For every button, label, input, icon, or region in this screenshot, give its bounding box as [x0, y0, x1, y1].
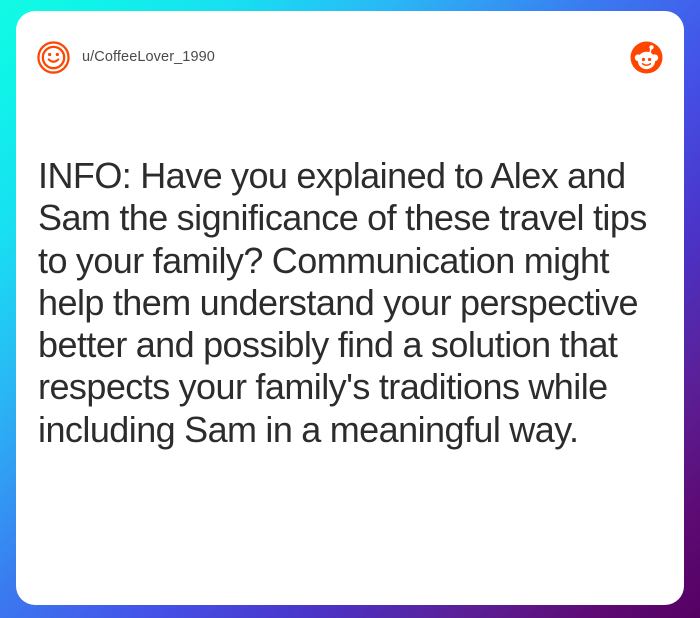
user-identity-block[interactable]: u/CoffeeLover_1990	[36, 40, 630, 75]
username-label: u/CoffeeLover_1990	[82, 49, 215, 65]
reddit-snoo-icon[interactable]	[630, 41, 663, 74]
post-body: INFO: Have you explained to Alex and Sam…	[16, 103, 684, 605]
screenshot-root: u/CoffeeLover_1990 INFO: Have you explai…	[0, 0, 700, 618]
post-header: u/CoffeeLover_1990	[16, 11, 684, 103]
post-card: u/CoffeeLover_1990 INFO: Have you explai…	[16, 11, 684, 605]
smiley-face-icon	[36, 40, 71, 75]
post-text: INFO: Have you explained to Alex and Sam…	[38, 155, 654, 451]
